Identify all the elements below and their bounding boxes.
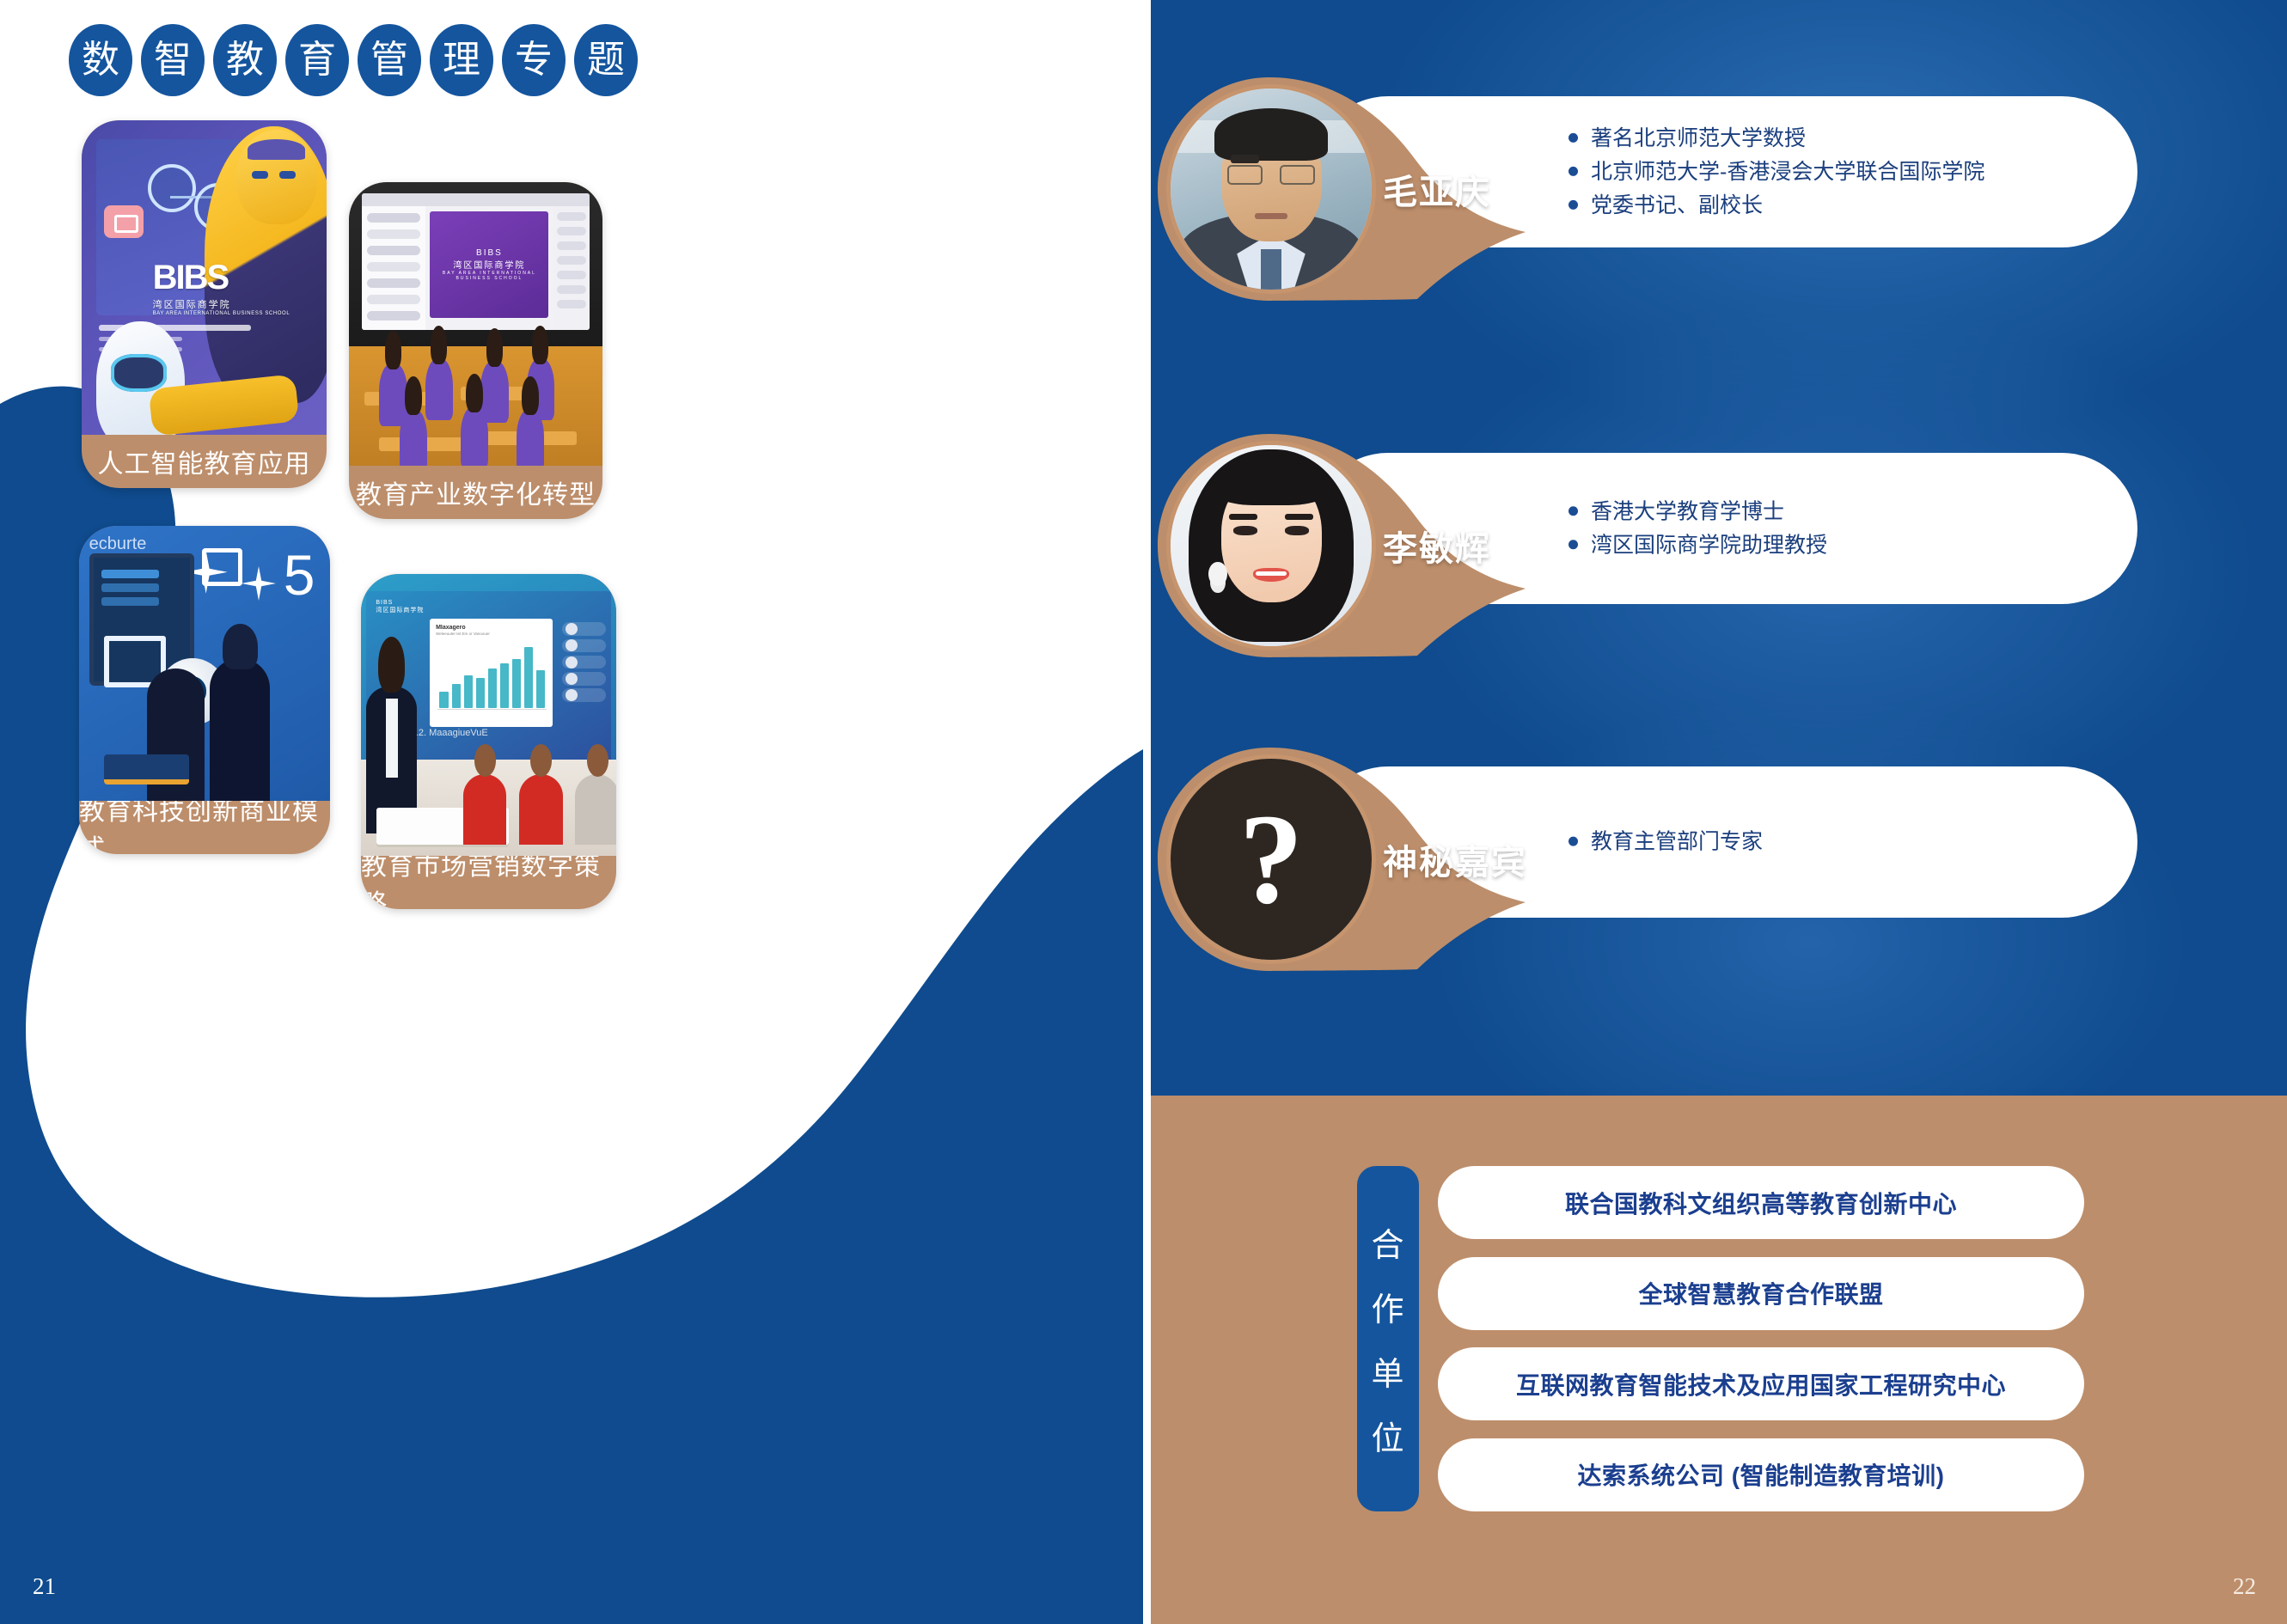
speaker-name: 李敏辉 bbox=[1383, 521, 1491, 571]
speaker-bullet: 教育主管部门专家 bbox=[1562, 826, 1763, 859]
speaker-bullet-list: 教育主管部门专家 bbox=[1562, 826, 1763, 859]
right-page: 著名北京师范大学数授 北京师范大学-香港浸会大学联合国际学院 党委书记、副校长 … bbox=[1151, 0, 2287, 1624]
photo-card[interactable]: ecburte 5 教育科技创新商业模式 bbox=[79, 526, 330, 854]
speaker-bullet: 香港大学教育学博士 bbox=[1562, 495, 1827, 528]
photo-lecture-chart: BIBS 湾区国际商学院 MIaxagero Weleeuuter tet Em… bbox=[361, 574, 616, 856]
speaker-bullet-list: 香港大学教育学博士 湾区国际商学院助理教授 bbox=[1562, 495, 1827, 562]
page-number-right: 22 bbox=[2233, 1573, 2256, 1600]
speaker-name: 毛亚庆 bbox=[1383, 164, 1491, 214]
partners-label-char-2: 单 bbox=[1371, 1347, 1404, 1395]
partners-label-char-3: 位 bbox=[1371, 1412, 1404, 1459]
partners-label-char-1: 作 bbox=[1371, 1283, 1404, 1330]
title-char-2: 教 bbox=[213, 24, 277, 96]
photo-card[interactable]: BIBS 湾区国际商学院 MIaxagero Weleeuuter tet Em… bbox=[361, 574, 616, 909]
partner-item[interactable]: 联合国教科文组织高等教育创新中心 bbox=[1438, 1166, 2084, 1239]
speaker-bullet: 湾区国际商学院助理教授 bbox=[1562, 528, 1827, 562]
board-caption: 12.2. MaaagiueVuE bbox=[406, 728, 488, 738]
photo-classroom-screen: BIBS湾区国际商学院BAY AREA INTERNATIONAL BUSINE… bbox=[349, 182, 602, 466]
speaker-bullet-list: 著名北京师范大学数授 北京师范大学-香港浸会大学联合国际学院 党委书记、副校长 bbox=[1562, 122, 1984, 222]
partner-item[interactable]: 全球智慧教育合作联盟 bbox=[1438, 1257, 2084, 1330]
partner-item[interactable]: 达索系统公司 (智能制造教育培训) bbox=[1438, 1438, 2084, 1511]
avatar: ? bbox=[1166, 754, 1376, 964]
partner-item[interactable]: 互联网教育智能技术及应用国家工程研究中心 bbox=[1438, 1347, 2084, 1420]
photo-card[interactable]: BIBS 湾区国际商学院BAY AREA INTERNATIONAL BUSIN… bbox=[82, 120, 327, 488]
left-page: 数 智 教 育 管 理 专 题 BIBS 湾区国际商学院BAY AREA INT… bbox=[0, 0, 1143, 1624]
avatar bbox=[1166, 441, 1376, 650]
page-number-left: 21 bbox=[33, 1573, 56, 1600]
bibs-logo: BIBS湾区国际商学院BAY AREA INTERNATIONAL BUSINE… bbox=[430, 248, 548, 281]
bibs-logo: BIBS 湾区国际商学院 bbox=[376, 600, 424, 614]
speaker-bullet: 著名北京师范大学数授 bbox=[1562, 122, 1984, 156]
title-char-6: 专 bbox=[502, 24, 566, 96]
photo-ai-robot: BIBS 湾区国际商学院BAY AREA INTERNATIONAL BUSIN… bbox=[82, 120, 327, 435]
title-char-4: 管 bbox=[358, 24, 421, 96]
photo-caption: 教育市场营销数字策略 bbox=[361, 856, 616, 909]
partners-label-char-0: 合 bbox=[1371, 1218, 1404, 1266]
photo-caption: 教育产业数字化转型 bbox=[349, 466, 602, 519]
title-char-5: 理 bbox=[430, 24, 493, 96]
speaker-name: 神秘嘉宾 bbox=[1383, 834, 1527, 884]
title-char-1: 智 bbox=[141, 24, 205, 96]
speaker-card[interactable]: 教育主管部门专家 ? 神秘嘉宾 bbox=[1151, 748, 2287, 971]
avatar bbox=[1166, 84, 1376, 294]
speaker-card[interactable]: 香港大学教育学博士 湾区国际商学院助理教授 李敏辉 bbox=[1151, 434, 2287, 657]
photo-caption: 教育科技创新商业模式 bbox=[79, 801, 330, 854]
title-char-7: 题 bbox=[574, 24, 638, 96]
photo-smartboard-demo: ecburte 5 bbox=[79, 526, 330, 801]
question-mark-icon: ? bbox=[1239, 795, 1304, 924]
poster-word: ecburte bbox=[89, 534, 147, 554]
speaker-card[interactable]: 著名北京师范大学数授 北京师范大学-香港浸会大学联合国际学院 党委书记、副校长 … bbox=[1151, 77, 2287, 301]
page-title: 数 智 教 育 管 理 专 题 bbox=[69, 24, 638, 96]
speaker-bullet: 北京师范大学-香港浸会大学联合国际学院 bbox=[1562, 156, 1984, 189]
speaker-bullet-cont: 党委书记、副校长 bbox=[1562, 188, 1984, 222]
page-divider bbox=[1143, 0, 1151, 1624]
poster-number: 5 bbox=[284, 542, 315, 607]
photo-caption: 人工智能教育应用 bbox=[82, 435, 327, 488]
bibs-logo: BIBS 湾区国际商学院BAY AREA INTERNATIONAL BUSIN… bbox=[153, 259, 290, 316]
chart-subtitle: Weleeuuter tet Em or Vanoouer bbox=[436, 632, 547, 636]
photo-card[interactable]: BIBS湾区国际商学院BAY AREA INTERNATIONAL BUSINE… bbox=[349, 182, 602, 519]
speakers-section: 著名北京师范大学数授 北京师范大学-香港浸会大学联合国际学院 党委书记、副校长 … bbox=[1151, 0, 2287, 1096]
partners-list: 联合国教科文组织高等教育创新中心 全球智慧教育合作联盟 互联网教育智能技术及应用… bbox=[1438, 1166, 2084, 1511]
title-char-3: 育 bbox=[285, 24, 349, 96]
title-char-0: 数 bbox=[69, 24, 132, 96]
partners-label: 合 作 单 位 bbox=[1357, 1166, 1419, 1511]
chart-panel: MIaxagero Weleeuuter tet Em or Vanoouer bbox=[430, 619, 553, 727]
chart-title: MIaxagero bbox=[436, 625, 547, 631]
